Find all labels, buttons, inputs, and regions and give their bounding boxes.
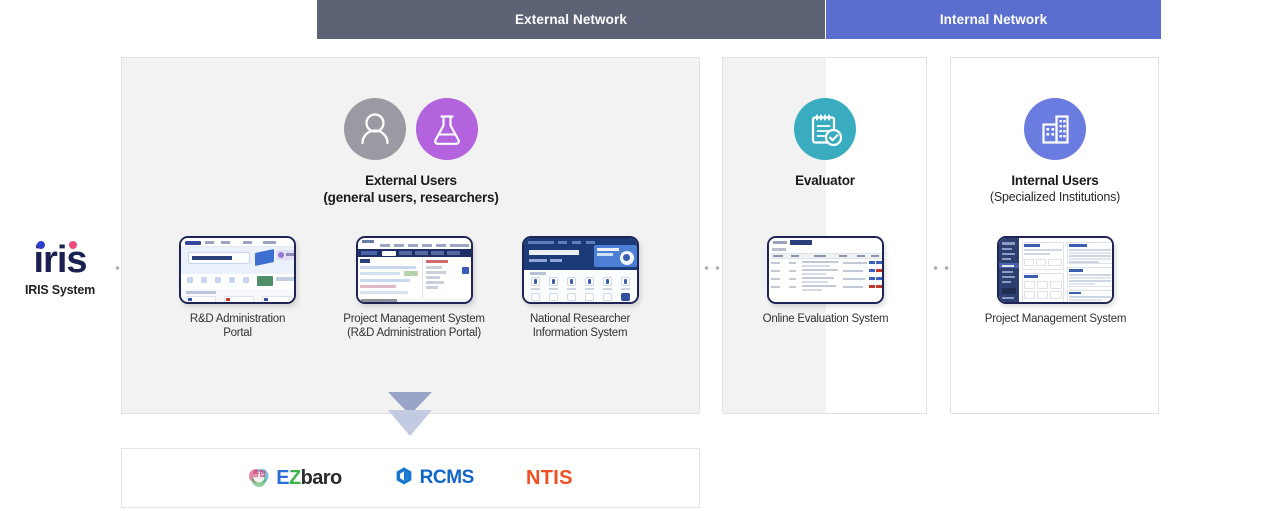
thumbnail-pms-external[interactable]	[356, 236, 473, 304]
thumbnail-pms-internal[interactable]	[997, 236, 1114, 304]
system-card-pms-external[interactable]: Project Management System (R&D Administr…	[330, 236, 498, 340]
diagram-canvas: External Network Internal Network iris I…	[0, 0, 1280, 511]
iris-system-caption: IRIS System	[6, 283, 114, 297]
external-users-subtitle: (general users, researchers)	[285, 189, 537, 206]
external-users-icons	[285, 98, 537, 160]
ezbaro-mark-icon: 통합	[248, 467, 270, 489]
system-card-pms-internal[interactable]: Project Management System	[978, 236, 1133, 327]
caption-rnd-portal: R&D Administration Portal	[161, 313, 314, 340]
caption-pms-internal: Project Management System	[978, 313, 1133, 327]
caption-pms-external: Project Management System (R&D Administr…	[330, 313, 498, 340]
rcms-wordmark: RCMS	[420, 467, 474, 489]
flask-icon	[416, 98, 478, 160]
rcms-logo[interactable]: RCMS	[394, 466, 474, 491]
evaluator-role: Evaluator	[740, 98, 910, 189]
internal-users-icons	[965, 98, 1145, 160]
thumbnail-nris[interactable]	[522, 236, 639, 304]
ezbaro-logo[interactable]: 통합 EZbaro	[248, 467, 341, 489]
internal-network-header: Internal Network	[826, 0, 1161, 39]
external-users-role: External Users (general users, researche…	[285, 98, 537, 206]
caption-nris: National Researcher Information System	[504, 313, 656, 340]
rcms-hexagon-icon	[394, 466, 414, 491]
ntis-logo[interactable]: NTIS	[526, 467, 573, 490]
internal-users-title: Internal Users	[965, 173, 1145, 189]
ntis-wordmark: NTIS	[526, 467, 573, 490]
thumbnail-oes[interactable]	[767, 236, 884, 304]
external-network-header: External Network	[317, 0, 825, 39]
flow-down-arrow-icon	[386, 390, 434, 440]
caption-oes: Online Evaluation System	[748, 313, 903, 327]
evaluator-title: Evaluator	[740, 173, 910, 189]
user-icon	[344, 98, 406, 160]
iris-system-logo: iris IRIS System	[6, 240, 114, 297]
thumbnail-rnd-portal[interactable]	[179, 236, 296, 304]
iris-wordmark: iris	[33, 240, 86, 280]
clipboard-check-icon	[794, 98, 856, 160]
system-card-nris[interactable]: National Researcher Information System	[504, 236, 656, 340]
partner-logo-strip: 통합 EZbaro RCMS NTIS	[121, 448, 700, 508]
ezbaro-wordmark: EZbaro	[276, 468, 341, 488]
internal-users-subtitle: (Specialized Institutions)	[965, 189, 1145, 206]
external-network-label: External Network	[515, 12, 627, 27]
buildings-icon	[1024, 98, 1086, 160]
ezbaro-mark-text: 통합	[248, 470, 270, 479]
external-users-title: External Users	[285, 173, 537, 189]
internal-users-role: Internal Users (Specialized Institutions…	[965, 98, 1145, 206]
internal-network-label: Internal Network	[940, 12, 1047, 27]
system-card-oes[interactable]: Online Evaluation System	[748, 236, 903, 327]
evaluator-icons	[740, 98, 910, 160]
system-card-rnd-portal[interactable]: R&D Administration Portal	[161, 236, 314, 340]
